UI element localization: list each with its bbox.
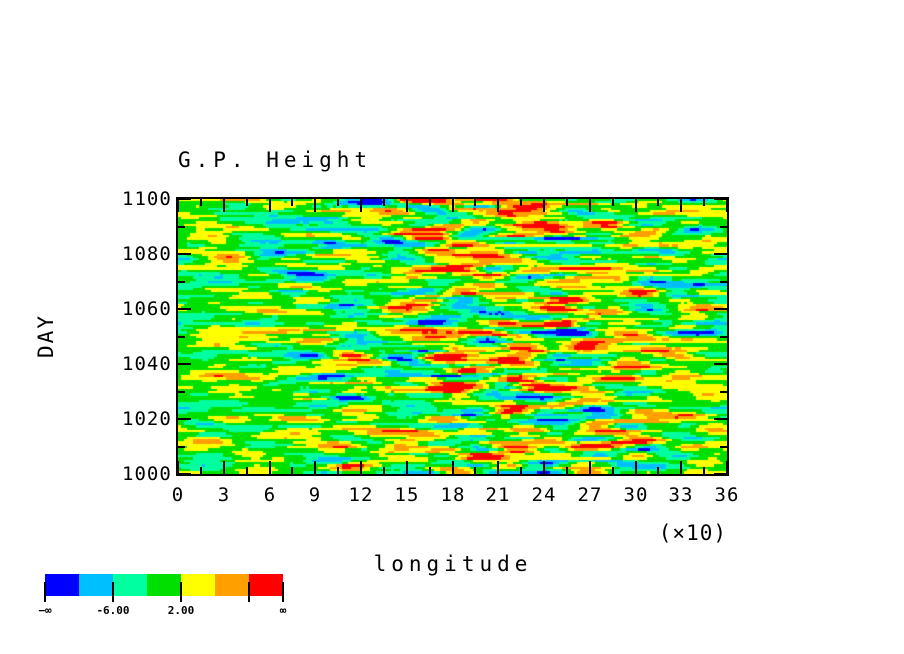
x-minor-tick xyxy=(703,199,705,206)
x-tick-label: 15 xyxy=(395,484,420,506)
x-minor-tick xyxy=(474,199,476,206)
x-minor-tick xyxy=(612,467,614,474)
y-tick-label: 1040 xyxy=(122,353,170,375)
y-minor-tick xyxy=(720,391,727,393)
y-tick-label: 1060 xyxy=(122,298,170,320)
y-minor-tick xyxy=(178,226,185,228)
x-minor-tick xyxy=(657,199,659,206)
x-minor-tick xyxy=(200,199,202,206)
x-minor-tick xyxy=(703,467,705,474)
x-axis-multiplier: (×10) xyxy=(659,521,727,545)
x-minor-tick xyxy=(520,467,522,474)
x-tick-label: 18 xyxy=(441,484,466,506)
x-major-tick xyxy=(406,199,408,212)
x-minor-tick xyxy=(246,199,248,206)
y-axis-title: DAY xyxy=(34,314,58,358)
y-major-tick xyxy=(714,198,727,200)
colorbar-tick xyxy=(44,582,46,602)
y-major-tick xyxy=(714,418,727,420)
x-minor-tick xyxy=(474,467,476,474)
page-title: G.P. Height xyxy=(178,148,372,172)
x-major-tick xyxy=(360,199,362,212)
x-major-tick xyxy=(497,461,499,474)
colorbar-label: 2.00 xyxy=(168,604,195,617)
x-minor-tick xyxy=(291,467,293,474)
colorbar-band-5 xyxy=(215,574,249,596)
y-minor-tick xyxy=(720,226,727,228)
y-major-tick xyxy=(714,308,727,310)
y-major-tick xyxy=(714,363,727,365)
y-major-tick xyxy=(178,308,191,310)
x-minor-tick xyxy=(337,467,339,474)
x-tick-label: 12 xyxy=(349,484,374,506)
y-tick-label: 1080 xyxy=(122,243,170,265)
colorbar: −∞-6.002.00∞ xyxy=(45,574,283,596)
colorbar-tick xyxy=(112,582,114,602)
heatmap-plot-area xyxy=(178,199,727,474)
y-minor-tick xyxy=(720,281,727,283)
colorbar-tick xyxy=(180,582,182,602)
x-tick-label: 24 xyxy=(532,484,557,506)
x-major-tick xyxy=(543,199,545,212)
colorbar-tick xyxy=(282,582,284,602)
x-major-tick xyxy=(726,199,728,212)
y-major-tick xyxy=(178,198,191,200)
x-major-tick xyxy=(635,199,637,212)
y-minor-tick xyxy=(178,281,185,283)
x-tick-label: 27 xyxy=(578,484,603,506)
x-tick-label: 9 xyxy=(309,484,321,506)
colorbar-band-6 xyxy=(249,574,283,596)
x-major-tick xyxy=(497,199,499,212)
x-minor-tick xyxy=(429,199,431,206)
colorbar-tick xyxy=(248,582,250,602)
y-tick-label: 1020 xyxy=(122,408,170,430)
colorbar-band-0 xyxy=(45,574,79,596)
colorbar-band-2 xyxy=(113,574,147,596)
y-minor-tick xyxy=(720,446,727,448)
x-minor-tick xyxy=(246,467,248,474)
y-minor-tick xyxy=(178,336,185,338)
y-major-tick xyxy=(178,473,191,475)
x-minor-tick xyxy=(291,199,293,206)
y-major-tick xyxy=(178,418,191,420)
y-tick-label: 1100 xyxy=(122,188,170,210)
x-major-tick xyxy=(223,199,225,212)
x-tick-label: 3 xyxy=(218,484,230,506)
heatmap-field xyxy=(178,199,727,474)
y-major-tick xyxy=(714,473,727,475)
colorbar-label: -6.00 xyxy=(96,604,129,617)
x-minor-tick xyxy=(383,467,385,474)
x-minor-tick xyxy=(520,199,522,206)
x-tick-label: 0 xyxy=(172,484,184,506)
x-minor-tick xyxy=(200,467,202,474)
x-major-tick xyxy=(177,199,179,212)
x-minor-tick xyxy=(612,199,614,206)
x-minor-tick xyxy=(429,467,431,474)
y-major-tick xyxy=(178,363,191,365)
x-major-tick xyxy=(543,461,545,474)
x-axis-title: longitude xyxy=(374,552,533,576)
y-minor-tick xyxy=(720,336,727,338)
x-major-tick xyxy=(680,461,682,474)
y-minor-tick xyxy=(178,446,185,448)
x-major-tick xyxy=(680,199,682,212)
y-major-tick xyxy=(178,253,191,255)
x-tick-label: 6 xyxy=(264,484,276,506)
x-tick-label: 33 xyxy=(669,484,694,506)
x-tick-label: 21 xyxy=(486,484,511,506)
x-major-tick xyxy=(452,461,454,474)
x-tick-label: 30 xyxy=(624,484,649,506)
x-major-tick xyxy=(406,461,408,474)
x-major-tick xyxy=(223,461,225,474)
x-major-tick xyxy=(269,199,271,212)
x-major-tick xyxy=(589,461,591,474)
x-major-tick xyxy=(269,461,271,474)
x-major-tick xyxy=(314,461,316,474)
x-major-tick xyxy=(314,199,316,212)
y-minor-tick xyxy=(178,391,185,393)
colorbar-label: ∞ xyxy=(280,604,287,617)
x-minor-tick xyxy=(657,467,659,474)
x-major-tick xyxy=(589,199,591,212)
colorbar-band-1 xyxy=(79,574,113,596)
y-tick-label: 1000 xyxy=(122,463,170,485)
x-major-tick xyxy=(635,461,637,474)
x-major-tick xyxy=(360,461,362,474)
x-minor-tick xyxy=(566,467,568,474)
colorbar-band-3 xyxy=(147,574,181,596)
colorbar-label: −∞ xyxy=(38,604,51,617)
x-minor-tick xyxy=(566,199,568,206)
x-minor-tick xyxy=(383,199,385,206)
colorbar-band-4 xyxy=(181,574,215,596)
x-tick-label: 36 xyxy=(715,484,740,506)
y-major-tick xyxy=(714,253,727,255)
x-minor-tick xyxy=(337,199,339,206)
x-major-tick xyxy=(452,199,454,212)
